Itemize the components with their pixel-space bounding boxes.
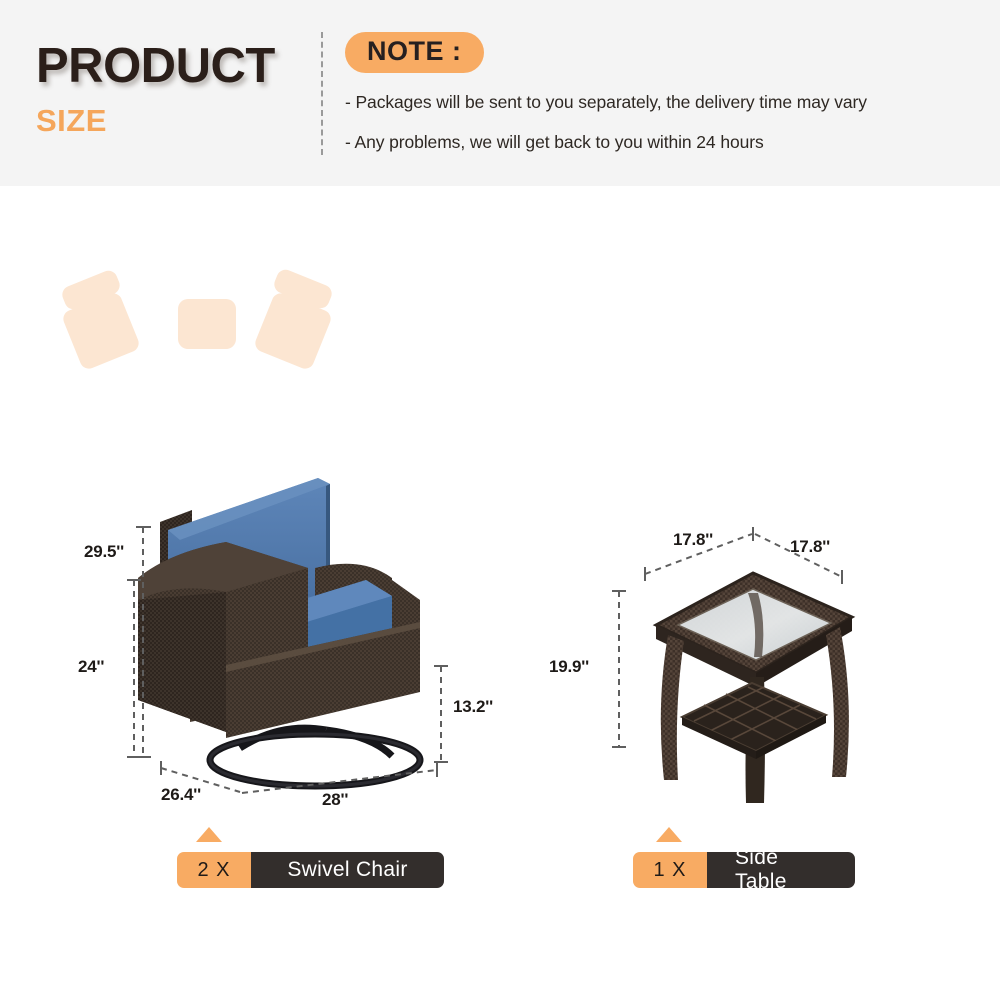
side-table-badge-pointer xyxy=(656,827,682,842)
dimension-lines xyxy=(0,0,1000,1000)
side-table-quantity: 1 X xyxy=(633,852,707,888)
swivel-chair-badge: 2 X Swivel Chair xyxy=(177,852,444,888)
dim-chair-back-height: 24'' xyxy=(78,657,104,677)
side-table-badge: 1 X Side Table xyxy=(633,852,855,888)
dim-chair-width: 28'' xyxy=(322,790,348,810)
dim-chair-depth: 26.4'' xyxy=(161,785,201,805)
product-size-infographic: PRODUCT SIZE NOTE : - Packages will be s… xyxy=(0,0,1000,1000)
swivel-chair-badge-pointer xyxy=(196,827,222,842)
side-table-name: Side Table xyxy=(707,852,855,888)
dim-table-height: 19.9'' xyxy=(549,657,589,677)
dim-chair-overall-height: 29.5'' xyxy=(84,542,124,562)
dim-table-top-depth: 17.8'' xyxy=(790,537,830,557)
dim-table-top-width: 17.8'' xyxy=(673,530,713,550)
dim-chair-seat-height: 13.2'' xyxy=(453,697,493,717)
swivel-chair-name: Swivel Chair xyxy=(251,852,444,888)
swivel-chair-quantity: 2 X xyxy=(177,852,251,888)
